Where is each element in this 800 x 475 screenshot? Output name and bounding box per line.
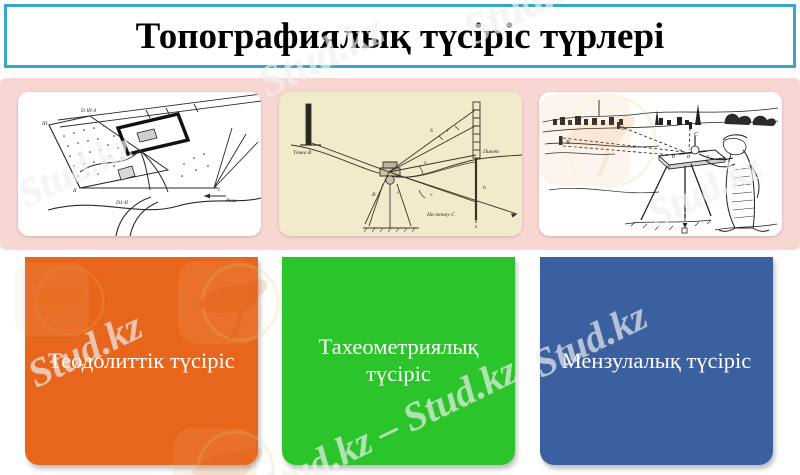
svg-text:На точку C: На точку C <box>426 212 455 218</box>
svg-text:c: c <box>707 154 710 160</box>
svg-text:D III-4: D III-4 <box>80 108 96 114</box>
panel-plane-table-survey-illustration[interactable]: B b C c a b <box>539 92 782 236</box>
svg-text:b: b <box>622 126 625 132</box>
svg-text:b: b <box>672 154 675 160</box>
svg-text:I: I <box>217 187 220 193</box>
tacheometric-survey-diagram: Точка B Пикет На точку C v v h i B l S <box>279 92 522 236</box>
svg-text:h: h <box>483 185 486 191</box>
theodolite-survey-diagram: D III-4 D1-II Река III II I <box>18 92 261 236</box>
svg-text:B: B <box>566 140 570 146</box>
panel-theodolite-survey-diagram[interactable]: D III-4 D1-II Река III II I <box>18 92 261 236</box>
concept-box-label: Тахеометриялық түсіріс <box>298 334 499 387</box>
title-bar: Топографиялық түсіріс түрлері <box>4 4 796 68</box>
concept-box-theodolite-survey[interactable]: Теодолиттік түсіріс <box>25 257 258 465</box>
svg-text:III: III <box>41 121 48 127</box>
svg-text:Река: Река <box>225 198 237 204</box>
page-title: Топографиялық түсіріс түрлері <box>136 18 665 55</box>
svg-text:S: S <box>430 128 433 134</box>
concept-box-tacheometric-survey[interactable]: Тахеометриялық түсіріс <box>282 257 515 465</box>
image-row: D III-4 D1-II Река III II I <box>0 78 800 250</box>
svg-text:D1-II: D1-II <box>115 200 128 206</box>
svg-text:II: II <box>72 188 77 194</box>
plane-table-survey-illustration: B b C c a b <box>539 92 782 236</box>
concept-boxes: Теодолиттік түсіріс Тахеометриялық түсір… <box>0 257 800 467</box>
panel-tacheometric-survey-diagram[interactable]: Точка B Пикет На точку C v v h i B l S <box>279 92 522 236</box>
svg-text:B: B <box>372 192 376 198</box>
svg-text:Пикет: Пикет <box>482 149 499 155</box>
concept-box-label: Теодолиттік түсіріс <box>41 348 242 375</box>
concept-box-label: Мензулалық түсіріс <box>556 348 757 375</box>
concept-box-plane-table-survey[interactable]: Мензулалық түсіріс <box>540 257 773 465</box>
svg-text:a: a <box>687 154 690 160</box>
svg-text:Точка B: Точка B <box>293 150 312 156</box>
